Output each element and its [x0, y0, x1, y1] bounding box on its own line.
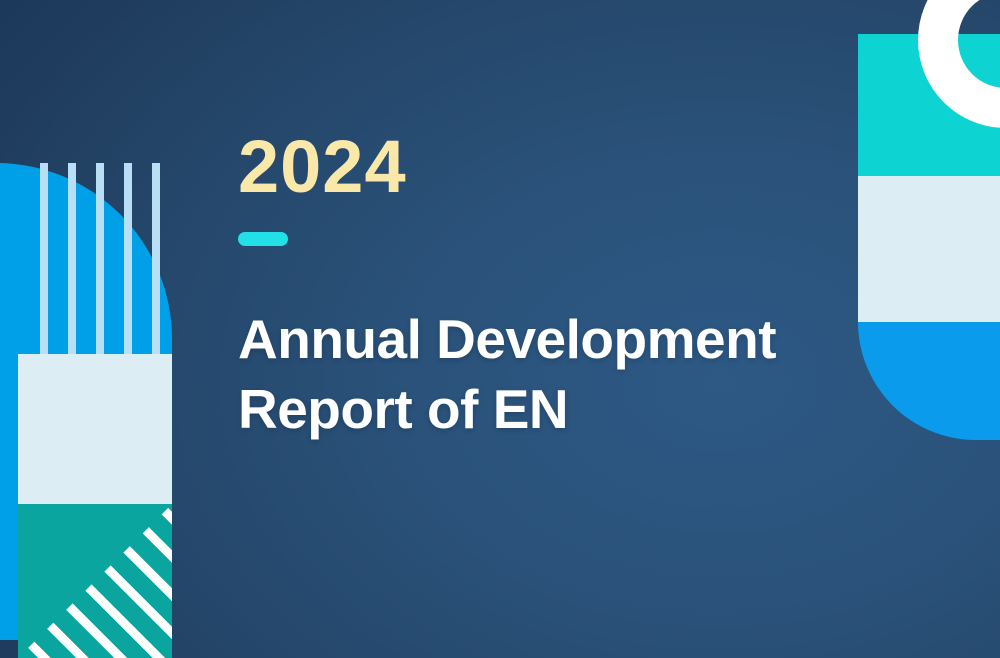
cover-title: Annual DevelopmentReport of EN	[238, 304, 838, 445]
cover-year: 2024	[238, 130, 838, 204]
diagonal-stripes-group	[18, 504, 172, 658]
report-cover: 2024 Annual DevelopmentReport of EN	[0, 0, 1000, 658]
cover-title-line-2: Report of EN	[238, 378, 568, 440]
pale-blue-panel	[18, 354, 172, 504]
blue-rounded-block	[858, 322, 1000, 440]
cover-text-block: 2024 Annual DevelopmentReport of EN	[238, 130, 838, 445]
teal-striped-panel	[18, 504, 172, 658]
accent-rule	[238, 232, 288, 246]
pale-blue-block	[858, 176, 1000, 322]
cover-title-line-1: Annual Development	[238, 308, 776, 370]
left-arch-decoration	[0, 150, 200, 658]
